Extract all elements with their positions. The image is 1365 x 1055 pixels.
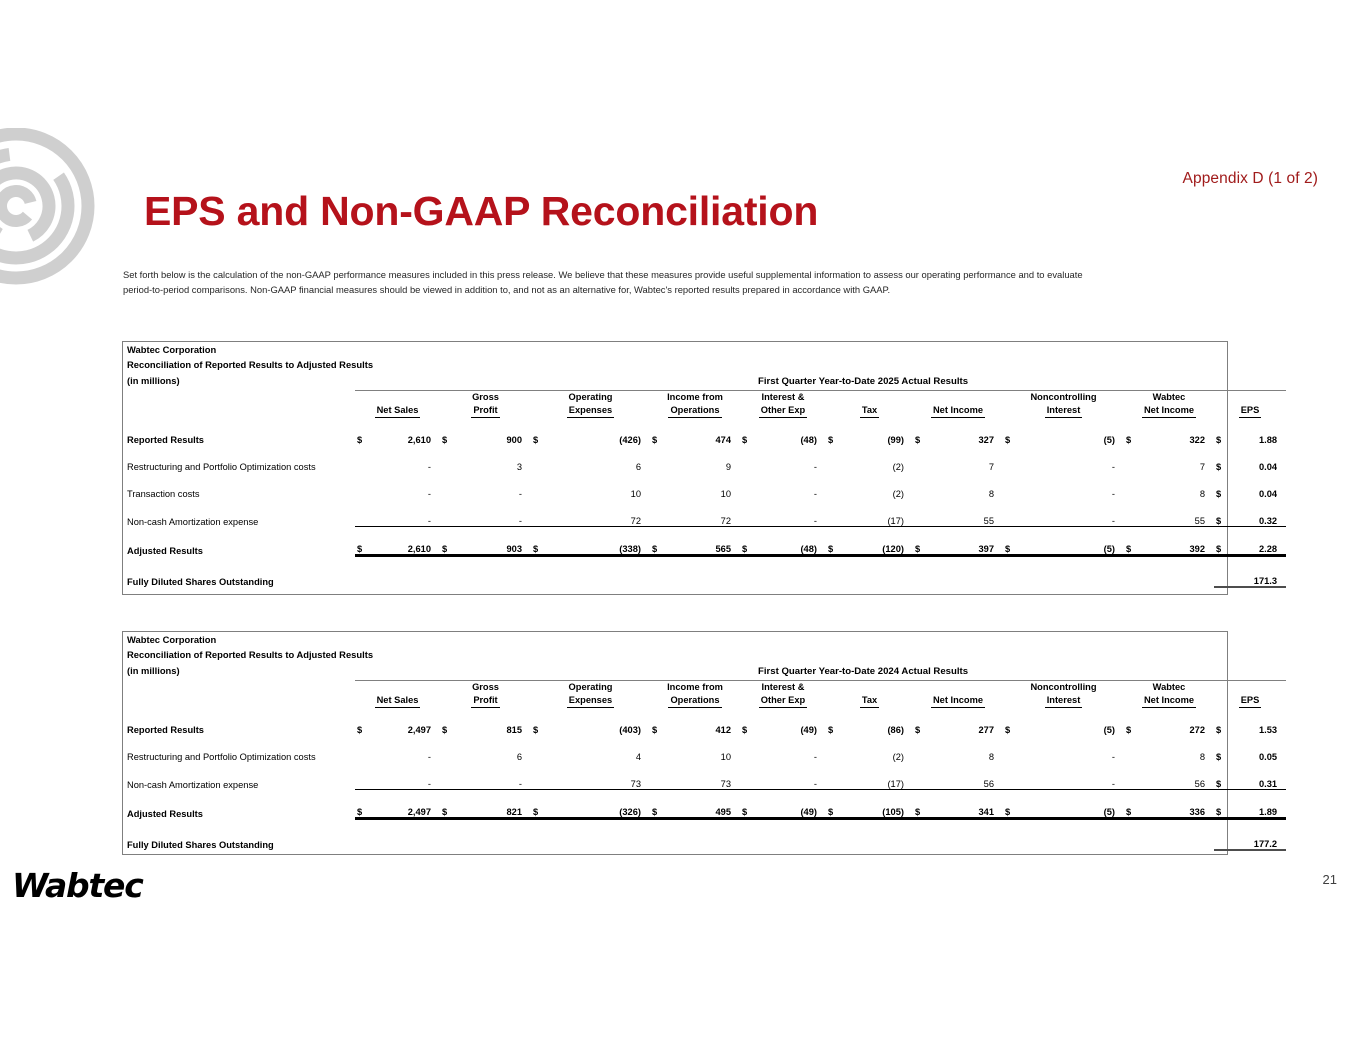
shares-currency-blank [1214, 556, 1231, 588]
currency-symbol [826, 472, 843, 499]
currency-symbol [355, 735, 372, 762]
cell-value: 3 [457, 445, 531, 472]
cell-value: (5) [1020, 418, 1124, 445]
col-header-line1: Operating [569, 682, 613, 692]
currency-symbol [913, 762, 930, 790]
currency-symbol [355, 445, 372, 472]
cell-value: (2) [843, 735, 913, 762]
cell-value: 815 [457, 708, 531, 735]
currency-symbol: $ [913, 527, 930, 556]
currency-symbol: $ [1214, 790, 1231, 819]
cell-value: 565 [667, 527, 740, 556]
currency-symbol [1124, 472, 1141, 499]
currency-symbol [740, 472, 757, 499]
cell-value: 72 [667, 499, 740, 527]
cell-value: - [1020, 735, 1124, 762]
table-title-row: Wabtec Corporation [123, 342, 1286, 357]
cell-value: (120) [843, 527, 913, 556]
cell-value: 8 [930, 472, 1003, 499]
cell-value: 0.32 [1231, 499, 1286, 527]
col-header-interest-other: Interest & Other Exp [740, 391, 826, 419]
table-row: Reported Results$2,610$900$(426)$474$(48… [123, 418, 1286, 445]
currency-symbol [355, 499, 372, 527]
cell-value: (17) [843, 499, 913, 527]
cell-value: (48) [757, 527, 826, 556]
currency-symbol [531, 762, 548, 790]
column-header-row: Net Sales Gross Profit Operating Expense… [123, 391, 1286, 419]
currency-symbol: $ [1124, 527, 1141, 556]
currency-symbol [826, 445, 843, 472]
currency-symbol [1003, 762, 1020, 790]
appendix-label: Appendix D (1 of 2) [1183, 170, 1318, 188]
row-label: Adjusted Results [123, 527, 355, 556]
currency-symbol: $ [1003, 790, 1020, 819]
cell-value: 412 [667, 708, 740, 735]
table-row: Restructuring and Portfolio Optimization… [123, 735, 1286, 762]
col-header-gross-profit: Gross Profit [440, 681, 531, 709]
cell-value: 8 [1141, 735, 1214, 762]
currency-symbol: $ [650, 708, 667, 735]
currency-symbol [1124, 735, 1141, 762]
col-header-net-income: Net Income [913, 681, 1003, 709]
cell-value: - [757, 445, 826, 472]
currency-symbol [355, 762, 372, 790]
cell-value: 903 [457, 527, 531, 556]
currency-symbol: $ [913, 418, 930, 445]
cell-value: 2,497 [372, 708, 440, 735]
currency-symbol [440, 762, 457, 790]
cell-value: - [757, 499, 826, 527]
shares-value: 171.3 [1231, 556, 1286, 588]
corp-name: Wabtec Corporation [123, 632, 1286, 647]
col-header-tax: Tax [826, 391, 913, 419]
col-header-line2: Net Sales [375, 694, 421, 709]
cell-value: 327 [930, 418, 1003, 445]
currency-symbol: $ [440, 418, 457, 445]
col-header-line2: Expenses [567, 694, 614, 709]
row-label: Restructuring and Portfolio Optimization… [123, 735, 355, 762]
table-units-row: (in millions) First Quarter Year-to-Date… [123, 662, 1286, 678]
cell-value: 56 [930, 762, 1003, 790]
fin-table-2025: Wabtec Corporation Reconciliation of Rep… [123, 342, 1286, 588]
currency-symbol: $ [826, 790, 843, 819]
col-header-income-from-operations: Income from Operations [650, 391, 740, 419]
cell-value: (338) [548, 527, 650, 556]
cell-value: 2,497 [372, 790, 440, 819]
currency-symbol: $ [913, 790, 930, 819]
col-header-line2: Net Income [1142, 694, 1196, 709]
row-label: Non-cash Amortization expense [123, 499, 355, 527]
cell-value: 6 [457, 735, 531, 762]
currency-symbol: $ [1003, 418, 1020, 445]
cell-value: 0.04 [1231, 472, 1286, 499]
cell-value: 10 [548, 472, 650, 499]
cell-value: - [372, 762, 440, 790]
col-header-line2: Expenses [567, 404, 614, 419]
currency-symbol: $ [440, 708, 457, 735]
cell-value: 10 [667, 735, 740, 762]
intro-paragraph: Set forth below is the calculation of th… [123, 268, 1213, 297]
row-label: Fully Diluted Shares Outstanding [123, 556, 355, 588]
currency-symbol: $ [531, 790, 548, 819]
col-header-line1: Interest & [762, 392, 805, 402]
cell-value: 7 [1141, 445, 1214, 472]
header-label-blank [123, 681, 355, 709]
table-row: Reported Results$2,497$815$(403)$412$(49… [123, 708, 1286, 735]
currency-symbol [913, 445, 930, 472]
currency-symbol: $ [1214, 762, 1231, 790]
currency-symbol [740, 735, 757, 762]
currency-symbol: $ [650, 418, 667, 445]
currency-symbol [826, 762, 843, 790]
currency-symbol: $ [740, 790, 757, 819]
cell-value: 821 [457, 790, 531, 819]
cell-value: 2,610 [372, 418, 440, 445]
currency-symbol [355, 472, 372, 499]
cell-value: 2,610 [372, 527, 440, 556]
cell-value: 392 [1141, 527, 1214, 556]
col-header-line2: Operations [668, 404, 721, 419]
cell-value: 474 [667, 418, 740, 445]
cell-value: - [1020, 762, 1124, 790]
shares-spacer [355, 819, 1214, 851]
col-header-operating-expenses: Operating Expenses [531, 681, 650, 709]
col-header-line2: Profit [471, 404, 499, 419]
currency-symbol: $ [740, 527, 757, 556]
table-units: (in millions) [123, 662, 440, 678]
table-row-total: Adjusted Results$2,497$821$(326)$495$(49… [123, 790, 1286, 819]
currency-symbol [740, 445, 757, 472]
col-header-line1: Income from [667, 392, 723, 402]
col-header-line2: EPS [1239, 404, 1262, 419]
currency-symbol: $ [650, 527, 667, 556]
table-row: Transaction costs--1010-(2)8-8$0.04 [123, 472, 1286, 499]
col-header-line2: Net Income [1142, 404, 1196, 419]
cell-value: 397 [930, 527, 1003, 556]
currency-symbol [826, 735, 843, 762]
cell-value: 73 [667, 762, 740, 790]
intro-line-1: Set forth below is the calculation of th… [123, 268, 1213, 283]
currency-symbol: $ [1003, 708, 1020, 735]
table-row-shares: Fully Diluted Shares Outstanding171.3 [123, 556, 1286, 588]
currency-symbol [1124, 762, 1141, 790]
cell-value: - [1020, 499, 1124, 527]
cell-value: - [457, 762, 531, 790]
cell-value: 4 [548, 735, 650, 762]
col-header-line1: Wabtec [1153, 392, 1186, 402]
cell-value: (49) [757, 790, 826, 819]
cell-value: 322 [1141, 418, 1214, 445]
currency-symbol: $ [826, 418, 843, 445]
cell-value: - [1020, 445, 1124, 472]
col-header-line2: EPS [1239, 694, 1262, 709]
currency-symbol [440, 499, 457, 527]
currency-symbol [1124, 499, 1141, 527]
currency-symbol: $ [1214, 527, 1231, 556]
period-title: First Quarter Year-to-Date 2025 Actual R… [440, 372, 1286, 388]
cell-value: (5) [1020, 527, 1124, 556]
col-header-line1: Noncontrolling [1030, 392, 1096, 402]
cell-value: - [757, 762, 826, 790]
currency-symbol: $ [826, 708, 843, 735]
cell-value: (49) [757, 708, 826, 735]
currency-symbol [740, 499, 757, 527]
cell-value: 56 [1141, 762, 1214, 790]
row-label: Reported Results [123, 418, 355, 445]
currency-symbol [650, 499, 667, 527]
cell-value: - [457, 499, 531, 527]
currency-symbol: $ [531, 418, 548, 445]
table-row-total: Adjusted Results$2,610$903$(338)$565$(48… [123, 527, 1286, 556]
table-row: Restructuring and Portfolio Optimization… [123, 445, 1286, 472]
col-header-income-from-operations: Income from Operations [650, 681, 740, 709]
cell-value: - [372, 472, 440, 499]
cell-value: 6 [548, 445, 650, 472]
cell-value: 1.53 [1231, 708, 1286, 735]
cell-value: 0.31 [1231, 762, 1286, 790]
corp-name: Wabtec Corporation [123, 342, 1286, 357]
currency-symbol: $ [826, 527, 843, 556]
currency-symbol: $ [913, 708, 930, 735]
period-title: First Quarter Year-to-Date 2024 Actual R… [440, 662, 1286, 678]
col-header-net-income: Net Income [913, 391, 1003, 419]
cell-value: 0.04 [1231, 445, 1286, 472]
cell-value: 1.88 [1231, 418, 1286, 445]
cell-value: (403) [548, 708, 650, 735]
cell-value: - [1020, 472, 1124, 499]
cell-value: (99) [843, 418, 913, 445]
currency-symbol: $ [1124, 790, 1141, 819]
col-header-line2: Net Income [931, 404, 985, 419]
currency-symbol [1124, 445, 1141, 472]
currency-symbol [1003, 735, 1020, 762]
currency-symbol [531, 472, 548, 499]
currency-symbol: $ [355, 790, 372, 819]
cell-value: 73 [548, 762, 650, 790]
intro-line-2: period-to-period comparisons. Non-GAAP f… [123, 283, 1213, 298]
col-header-line1: Interest & [762, 682, 805, 692]
currency-symbol [440, 472, 457, 499]
row-label: Transaction costs [123, 472, 355, 499]
col-header-operating-expenses: Operating Expenses [531, 391, 650, 419]
currency-symbol: $ [1214, 472, 1231, 499]
cell-value: 55 [1141, 499, 1214, 527]
col-header-line2: Net Sales [375, 404, 421, 419]
shares-currency-blank [1214, 819, 1231, 851]
currency-symbol [440, 735, 457, 762]
cell-value: (86) [843, 708, 913, 735]
row-label: Restructuring and Portfolio Optimization… [123, 445, 355, 472]
cell-value: - [372, 499, 440, 527]
currency-symbol: $ [1214, 445, 1231, 472]
wabtec-swirl-logo [0, 128, 119, 288]
col-header-tax: Tax [826, 681, 913, 709]
shares-value: 177.2 [1231, 819, 1286, 851]
cell-value: (326) [548, 790, 650, 819]
col-header-line2: Profit [471, 694, 499, 709]
currency-symbol: $ [440, 527, 457, 556]
col-header-line1: Income from [667, 682, 723, 692]
currency-symbol: $ [355, 708, 372, 735]
cell-value: 495 [667, 790, 740, 819]
currency-symbol [740, 762, 757, 790]
row-label: Adjusted Results [123, 790, 355, 819]
col-header-line1: Gross [472, 682, 499, 692]
col-header-noncontrolling-interest: Noncontrolling Interest [1003, 391, 1124, 419]
cell-value: - [372, 445, 440, 472]
table-subtitle: Reconciliation of Reported Results to Ad… [123, 357, 1286, 372]
table-row-shares: Fully Diluted Shares Outstanding177.2 [123, 819, 1286, 851]
currency-symbol: $ [650, 790, 667, 819]
cell-value: 341 [930, 790, 1003, 819]
fin-table-2024: Wabtec Corporation Reconciliation of Rep… [123, 632, 1286, 851]
currency-symbol: $ [740, 708, 757, 735]
col-header-line2: Tax [860, 694, 879, 709]
currency-symbol [531, 445, 548, 472]
currency-symbol: $ [1214, 499, 1231, 527]
cell-value: (105) [843, 790, 913, 819]
currency-symbol: $ [1124, 708, 1141, 735]
currency-symbol [1003, 472, 1020, 499]
cell-value: 1.89 [1231, 790, 1286, 819]
currency-symbol: $ [531, 527, 548, 556]
col-header-line1: Noncontrolling [1030, 682, 1096, 692]
col-header-net-sales: Net Sales [355, 681, 440, 709]
cell-value: 8 [1141, 472, 1214, 499]
col-header-line2: Net Income [931, 694, 985, 709]
currency-symbol: $ [740, 418, 757, 445]
cell-value: (48) [757, 418, 826, 445]
table-units: (in millions) [123, 372, 440, 388]
cell-value: 7 [930, 445, 1003, 472]
cell-value: 9 [667, 445, 740, 472]
cell-value: - [757, 472, 826, 499]
cell-value: (426) [548, 418, 650, 445]
page-number: 21 [1323, 872, 1337, 887]
table-subtitle-row: Reconciliation of Reported Results to Ad… [123, 647, 1286, 662]
currency-symbol: $ [440, 790, 457, 819]
col-header-net-sales: Net Sales [355, 391, 440, 419]
currency-symbol [650, 472, 667, 499]
currency-symbol: $ [1003, 527, 1020, 556]
cell-value: (2) [843, 445, 913, 472]
currency-symbol [913, 735, 930, 762]
cell-value: 10 [667, 472, 740, 499]
table-units-row: (in millions) First Quarter Year-to-Date… [123, 372, 1286, 388]
currency-symbol: $ [1214, 708, 1231, 735]
cell-value: (5) [1020, 790, 1124, 819]
cell-value: 55 [930, 499, 1003, 527]
col-header-line2: Interest [1045, 404, 1083, 419]
currency-symbol: $ [1214, 418, 1231, 445]
currency-symbol [650, 445, 667, 472]
col-header-eps: EPS [1214, 681, 1286, 709]
currency-symbol [650, 735, 667, 762]
col-header-interest-other: Interest & Other Exp [740, 681, 826, 709]
col-header-line2: Tax [860, 404, 879, 419]
col-header-line1: Wabtec [1153, 682, 1186, 692]
table-body-2025: Reported Results$2,610$900$(426)$474$(48… [123, 418, 1286, 587]
cell-value: 0.05 [1231, 735, 1286, 762]
currency-symbol [531, 735, 548, 762]
currency-symbol [440, 445, 457, 472]
shares-spacer [355, 556, 1214, 588]
currency-symbol [1003, 445, 1020, 472]
currency-symbol: $ [531, 708, 548, 735]
currency-symbol [913, 472, 930, 499]
currency-symbol: $ [355, 527, 372, 556]
currency-symbol [826, 499, 843, 527]
col-header-wabtec-net-income: Wabtec Net Income [1124, 391, 1214, 419]
table-subtitle: Reconciliation of Reported Results to Ad… [123, 647, 1286, 662]
currency-symbol [913, 499, 930, 527]
currency-symbol: $ [1214, 735, 1231, 762]
col-header-gross-profit: Gross Profit [440, 391, 531, 419]
cell-value: 8 [930, 735, 1003, 762]
cell-value: (5) [1020, 708, 1124, 735]
col-header-line2: Operations [668, 694, 721, 709]
col-header-line2: Other Exp [759, 694, 807, 709]
cell-value: - [372, 735, 440, 762]
table-title-row: Wabtec Corporation [123, 632, 1286, 647]
table-row: Non-cash Amortization expense--7373-(17)… [123, 762, 1286, 790]
cell-value: 2.28 [1231, 527, 1286, 556]
cell-value: 336 [1141, 790, 1214, 819]
col-header-line1: Gross [472, 392, 499, 402]
col-header-line1: Operating [569, 392, 613, 402]
wabtec-logo: Wabtec [12, 866, 143, 905]
currency-symbol: $ [355, 418, 372, 445]
column-header-row: Net Sales Gross Profit Operating Expense… [123, 681, 1286, 709]
cell-value: (2) [843, 472, 913, 499]
table-subtitle-row: Reconciliation of Reported Results to Ad… [123, 357, 1286, 372]
cell-value: 72 [548, 499, 650, 527]
cell-value: (17) [843, 762, 913, 790]
currency-symbol [650, 762, 667, 790]
col-header-line2: Interest [1045, 694, 1083, 709]
cell-value: - [457, 472, 531, 499]
col-header-noncontrolling-interest: Noncontrolling Interest [1003, 681, 1124, 709]
currency-symbol [1003, 499, 1020, 527]
reconciliation-table-2025: Wabtec Corporation Reconciliation of Rep… [122, 341, 1228, 595]
header-label-blank [123, 391, 355, 419]
page-title: EPS and Non-GAAP Reconciliation [144, 188, 818, 235]
row-label: Fully Diluted Shares Outstanding [123, 819, 355, 851]
table-body-2024: Reported Results$2,497$815$(403)$412$(49… [123, 708, 1286, 850]
currency-symbol [531, 499, 548, 527]
table-row: Non-cash Amortization expense--7272-(17)… [123, 499, 1286, 527]
reconciliation-table-2024: Wabtec Corporation Reconciliation of Rep… [122, 631, 1228, 855]
col-header-eps: EPS [1214, 391, 1286, 419]
cell-value: 272 [1141, 708, 1214, 735]
col-header-wabtec-net-income: Wabtec Net Income [1124, 681, 1214, 709]
cell-value: 900 [457, 418, 531, 445]
cell-value: 277 [930, 708, 1003, 735]
currency-symbol: $ [1124, 418, 1141, 445]
row-label: Non-cash Amortization expense [123, 762, 355, 790]
row-label: Reported Results [123, 708, 355, 735]
col-header-line2: Other Exp [759, 404, 807, 419]
cell-value: - [757, 735, 826, 762]
